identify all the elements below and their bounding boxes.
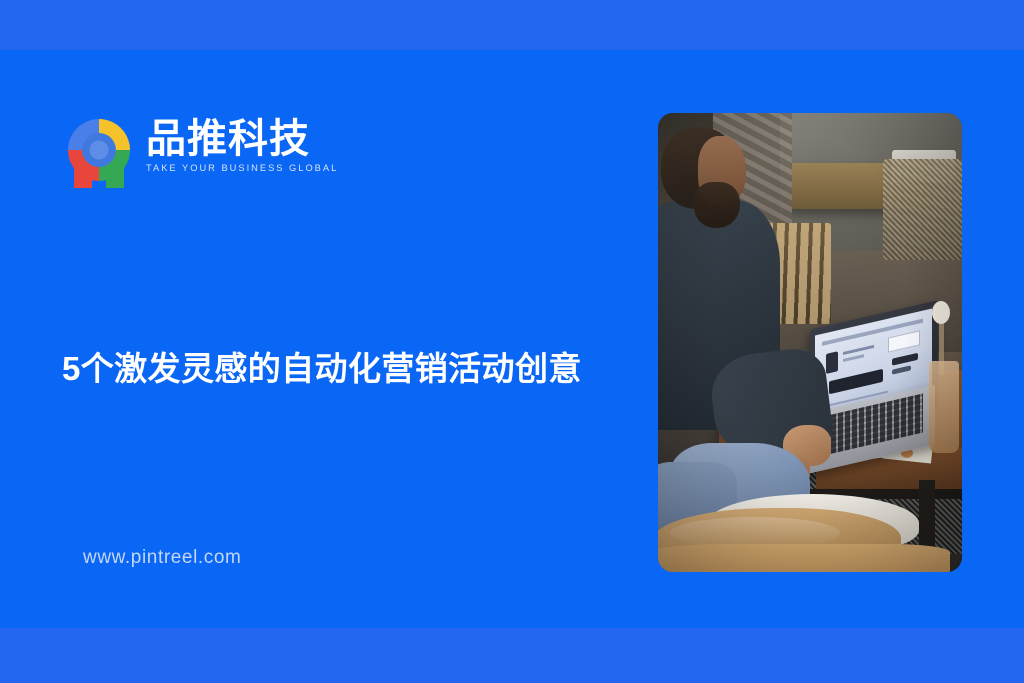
pintreel-ring-p-logo-icon <box>62 112 138 190</box>
photo-screen-button <box>892 353 918 366</box>
hero-photo <box>658 113 962 572</box>
photo-screen-panel <box>829 369 883 395</box>
brand-logo[interactable]: 品推科技 TAKE YOUR BUSINESS GLOBAL <box>62 110 312 192</box>
cover-canvas: 品推科技 TAKE YOUR BUSINESS GLOBAL 5个激发灵感的自动… <box>0 0 1024 683</box>
photo-tan-cushion <box>658 544 950 572</box>
photo-screen-text-line <box>843 344 873 355</box>
photo-desk-leg <box>919 480 934 553</box>
brand-tagline: TAKE YOUR BUSINESS GLOBAL <box>146 163 316 173</box>
hero-photo-image <box>658 113 962 572</box>
photo-flower <box>932 301 950 324</box>
photo-person-beard <box>694 182 740 228</box>
photo-screen-card <box>887 330 920 353</box>
photo-screen-text-line <box>843 354 864 362</box>
photo-screen-button <box>892 365 911 375</box>
photo-vase <box>929 361 959 453</box>
photo-screen-thumbnail <box>825 351 838 375</box>
brand-logotype: 品推科技 TAKE YOUR BUSINESS GLOBAL <box>146 118 316 173</box>
site-url[interactable]: www.pintreel.com <box>83 547 241 569</box>
photo-wicker-basket <box>883 159 962 260</box>
page-title: 5个激发灵感的自动化营销活动创意 <box>62 348 632 389</box>
brand-name-cn: 品推科技 <box>146 118 316 160</box>
